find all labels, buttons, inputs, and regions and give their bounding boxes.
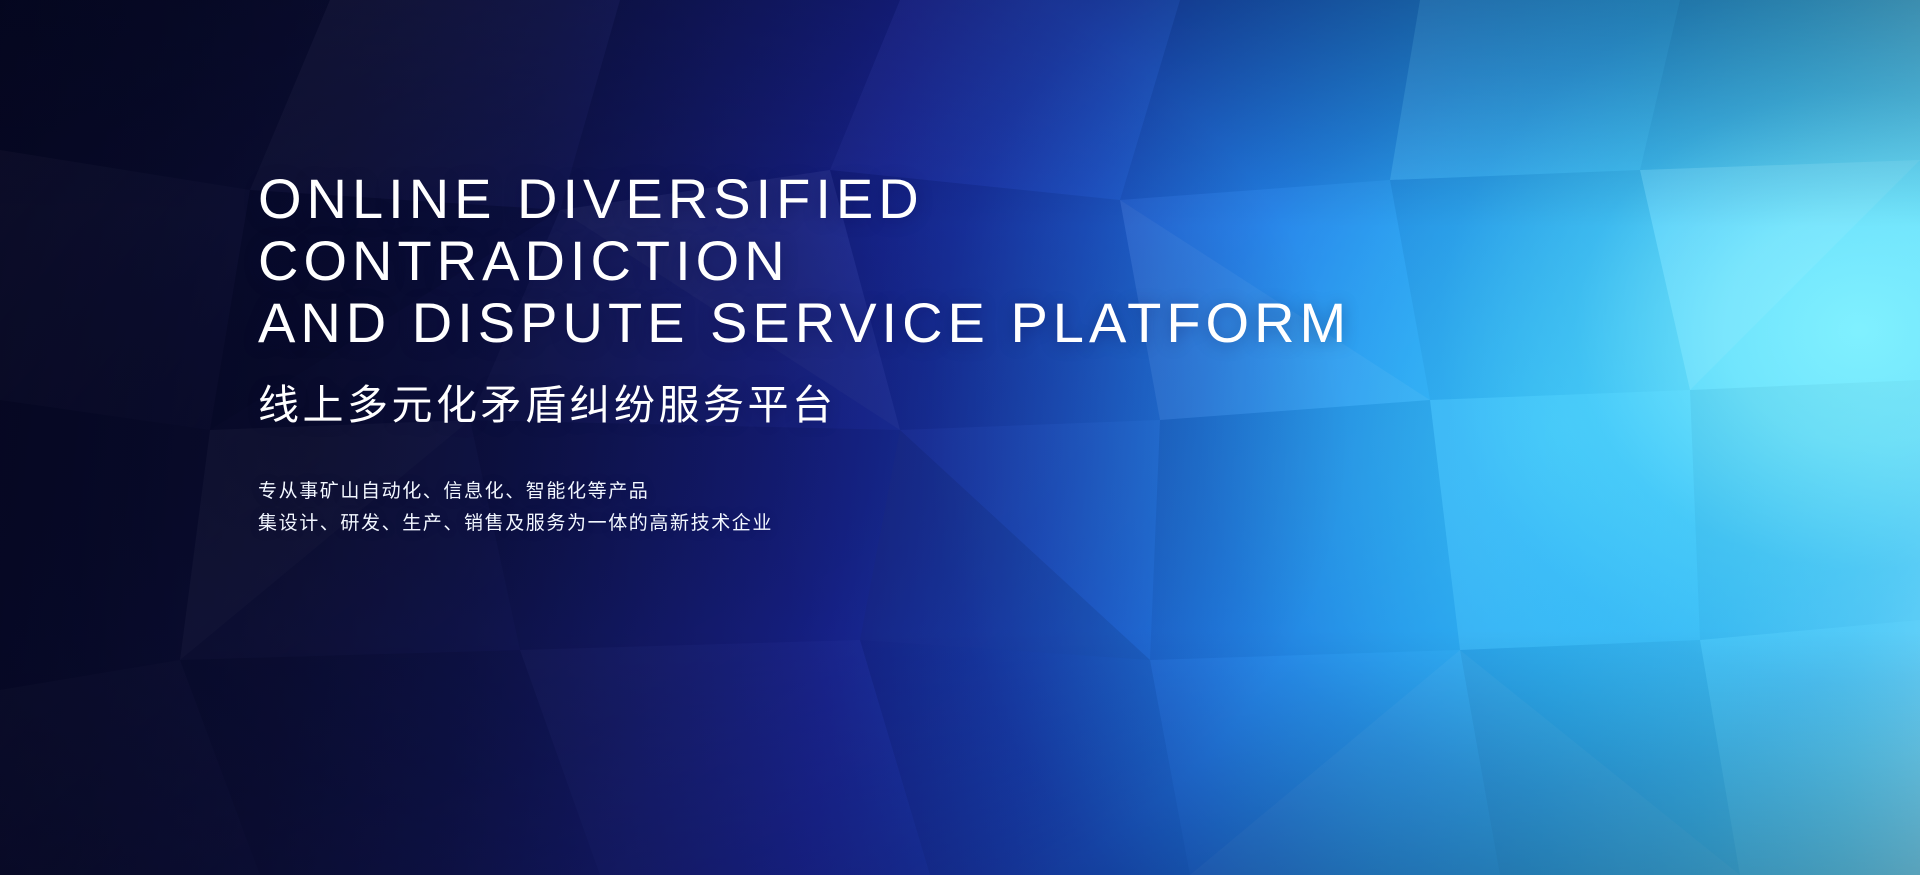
hero-banner: ONLINE DIVERSIFIED CONTRADICTION AND DIS… [0,0,1920,875]
description-line-1: 专从事矿山自动化、信息化、智能化等产品 [258,476,1458,508]
description-line-2: 集设计、研发、生产、销售及服务为一体的高新技术企业 [258,508,1458,540]
headline-chinese: 线上多元化矛盾纠纷服务平台 [258,380,1458,430]
hero-description: 专从事矿山自动化、信息化、智能化等产品 集设计、研发、生产、销售及服务为一体的高… [258,476,1458,540]
hero-content: ONLINE DIVERSIFIED CONTRADICTION AND DIS… [258,168,1458,540]
headline-english: ONLINE DIVERSIFIED CONTRADICTION AND DIS… [258,168,1458,354]
